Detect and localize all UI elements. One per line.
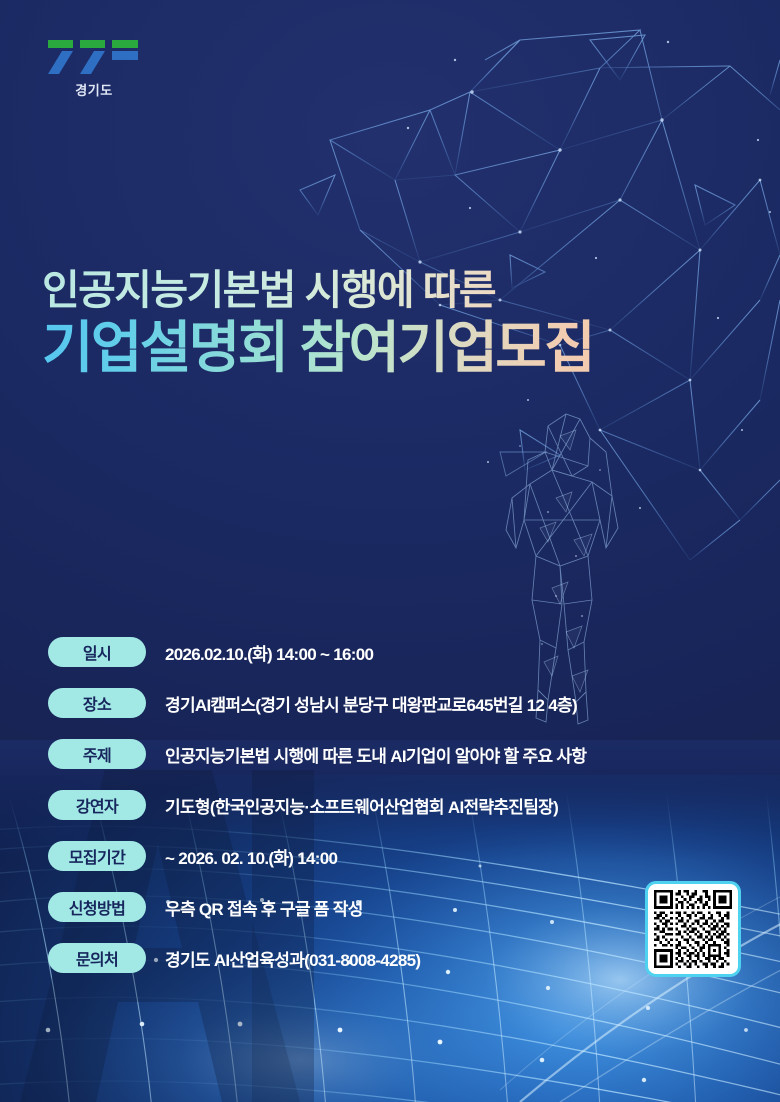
info-value-how-to-apply: 우측 QR 접속 후 구글 폼 작성	[165, 895, 363, 920]
info-row-application-period: 모집기간 ~ 2026. 02. 10.(화) 14:00	[48, 841, 748, 871]
event-info-list: 일시 2026.02.10.(화) 14:00 ~ 16:00 장소 경기AI캠…	[48, 637, 748, 973]
gyeonggi-logo-mark	[48, 40, 140, 76]
info-value-application-period: ~ 2026. 02. 10.(화) 14:00	[165, 844, 337, 869]
info-label-topic: 주제	[48, 739, 146, 769]
headline-line-1: 인공지능기본법 시행에 따른	[42, 268, 762, 314]
info-value-topic: 인공지능기본법 시행에 따른 도내 AI기업이 알아야 할 주요 사항	[165, 742, 586, 767]
qr-code[interactable]	[645, 881, 741, 977]
info-value-date: 2026.02.10.(화) 14:00 ~ 16:00	[165, 640, 373, 665]
info-label-application-period: 모집기간	[48, 841, 146, 871]
info-value-speaker: 기도형(한국인공지능·소프트웨어산업협회 AI전략추진팀장)	[165, 793, 558, 818]
logo-label: 경기도	[48, 80, 140, 99]
info-label-date: 일시	[48, 637, 146, 667]
info-row-speaker: 강연자 기도형(한국인공지능·소프트웨어산업협회 AI전략추진팀장)	[48, 790, 748, 820]
gyeonggi-do-logo: 경기도	[48, 40, 140, 99]
info-label-speaker: 강연자	[48, 790, 146, 820]
info-row-venue: 장소 경기AI캠퍼스(경기 성남시 분당구 대왕판교로645번길 12 4층)	[48, 688, 748, 718]
info-row-how-to-apply: 신청방법 우측 QR 접속 후 구글 폼 작성	[48, 892, 748, 922]
info-value-contact: 경기도 AI산업육성과(031-8008-4285)	[165, 946, 420, 971]
info-row-date: 일시 2026.02.10.(화) 14:00 ~ 16:00	[48, 637, 748, 667]
info-label-how-to-apply: 신청방법	[48, 892, 146, 922]
info-label-venue: 장소	[48, 688, 146, 718]
info-row-contact: 문의처 경기도 AI산업육성과(031-8008-4285)	[48, 943, 748, 973]
qr-code-icon	[654, 890, 732, 968]
info-row-topic: 주제 인공지능기본법 시행에 따른 도내 AI기업이 알아야 할 주요 사항	[48, 739, 748, 769]
event-poster: 경기도 인공지능기본법 시행에 따른 기업설명회 참여기업모집 일시 2026.…	[0, 0, 780, 1102]
poster-headline: 인공지능기본법 시행에 따른 기업설명회 참여기업모집	[42, 268, 762, 380]
info-value-venue: 경기AI캠퍼스(경기 성남시 분당구 대왕판교로645번길 12 4층)	[165, 691, 577, 716]
info-label-contact: 문의처	[48, 943, 146, 973]
headline-line-2: 기업설명회 참여기업모집	[42, 316, 762, 380]
